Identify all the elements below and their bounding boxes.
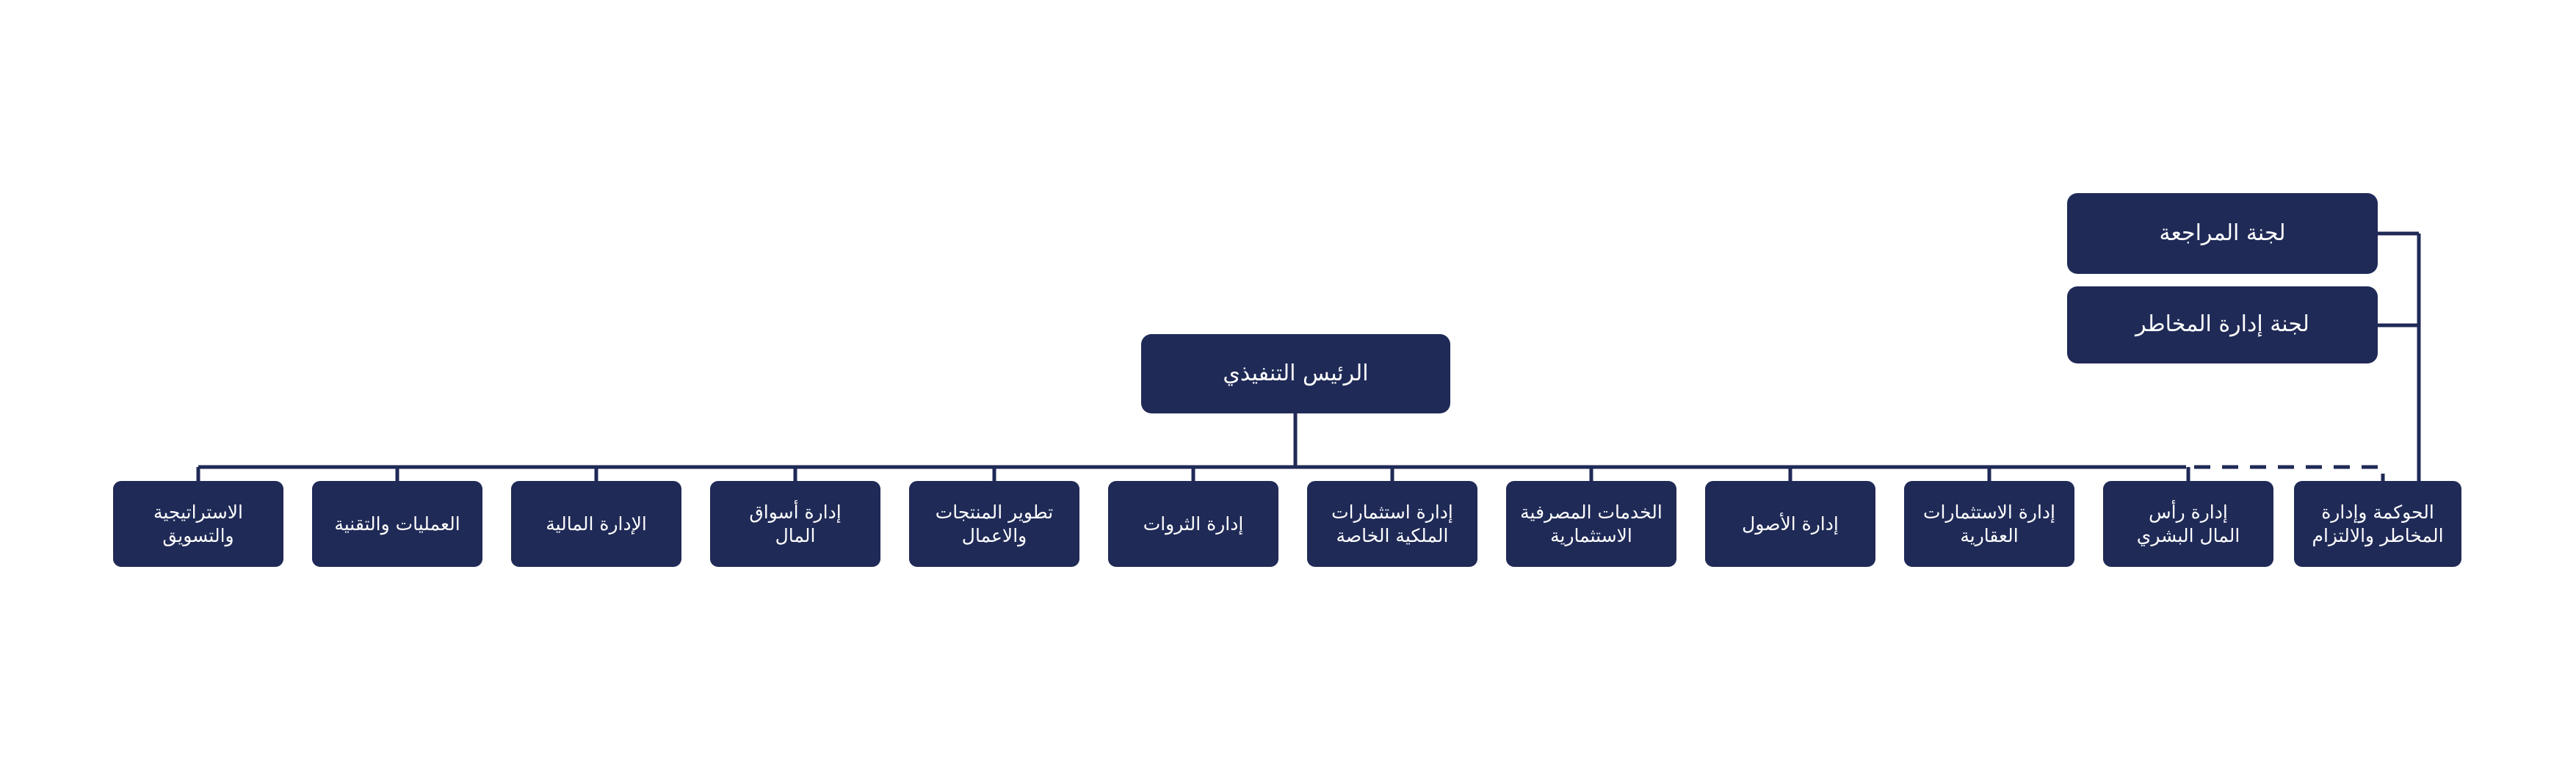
node-dept-operations-technology[interactable]: العمليات والتقنية — [312, 481, 482, 567]
node-dept-human-capital-label: إدارة رأس المال البشري — [2137, 501, 2240, 548]
node-ceo-label: الرئيس التنفيذي — [1223, 360, 1368, 388]
org-chart-canvas: الرئيس التنفيذي لجنة المراجعة لجنة إدارة… — [0, 0, 2576, 760]
node-dept-operations-technology-label: العمليات والتقنية — [334, 513, 460, 536]
node-committee-risk[interactable]: لجنة إدارة المخاطر — [2067, 286, 2378, 363]
node-dept-product-business-development[interactable]: تطوير المنتجات والاعمال — [909, 481, 1079, 567]
node-ceo[interactable]: الرئيس التنفيذي — [1141, 334, 1450, 413]
node-committee-risk-label: لجنة إدارة المخاطر — [2135, 311, 2309, 339]
node-dept-governance-risk-compliance[interactable]: الحوكمة وإدارة المخاطر والالتزام — [2294, 481, 2461, 567]
node-dept-human-capital[interactable]: إدارة رأس المال البشري — [2103, 481, 2273, 567]
node-dept-wealth-management-label: إدارة الثروات — [1143, 513, 1244, 536]
node-dept-finance[interactable]: الإدارة المالية — [511, 481, 681, 567]
node-dept-capital-markets[interactable]: إدارة أسواق المال — [710, 481, 880, 567]
node-dept-strategy-marketing-label: الاستراتيجية والتسويق — [153, 501, 243, 548]
node-dept-investment-banking-label: الخدمات المصرفية الاستثمارية — [1520, 501, 1663, 548]
node-committee-audit[interactable]: لجنة المراجعة — [2067, 193, 2378, 274]
node-dept-investment-banking[interactable]: الخدمات المصرفية الاستثمارية — [1506, 481, 1676, 567]
node-dept-asset-management[interactable]: إدارة الأصول — [1705, 481, 1875, 567]
node-dept-strategy-marketing[interactable]: الاستراتيجية والتسويق — [113, 481, 283, 567]
node-dept-private-equity[interactable]: إدارة استثمارات الملكية الخاصة — [1307, 481, 1477, 567]
node-dept-real-estate-investments-label: إدارة الاستثمارات العقارية — [1923, 501, 2055, 548]
node-dept-product-business-development-label: تطوير المنتجات والاعمال — [936, 501, 1053, 548]
governance-dashed-connector — [2194, 467, 2383, 481]
node-dept-private-equity-label: إدارة استثمارات الملكية الخاصة — [1331, 501, 1453, 548]
node-dept-governance-risk-compliance-label: الحوكمة وإدارة المخاطر والالتزام — [2312, 501, 2443, 548]
node-dept-finance-label: الإدارة المالية — [546, 513, 647, 536]
node-dept-capital-markets-label: إدارة أسواق المال — [749, 501, 841, 548]
node-dept-asset-management-label: إدارة الأصول — [1742, 513, 1839, 536]
node-dept-real-estate-investments[interactable]: إدارة الاستثمارات العقارية — [1904, 481, 2074, 567]
node-committee-audit-label: لجنة المراجعة — [2160, 220, 2286, 247]
node-dept-wealth-management[interactable]: إدارة الثروات — [1108, 481, 1278, 567]
